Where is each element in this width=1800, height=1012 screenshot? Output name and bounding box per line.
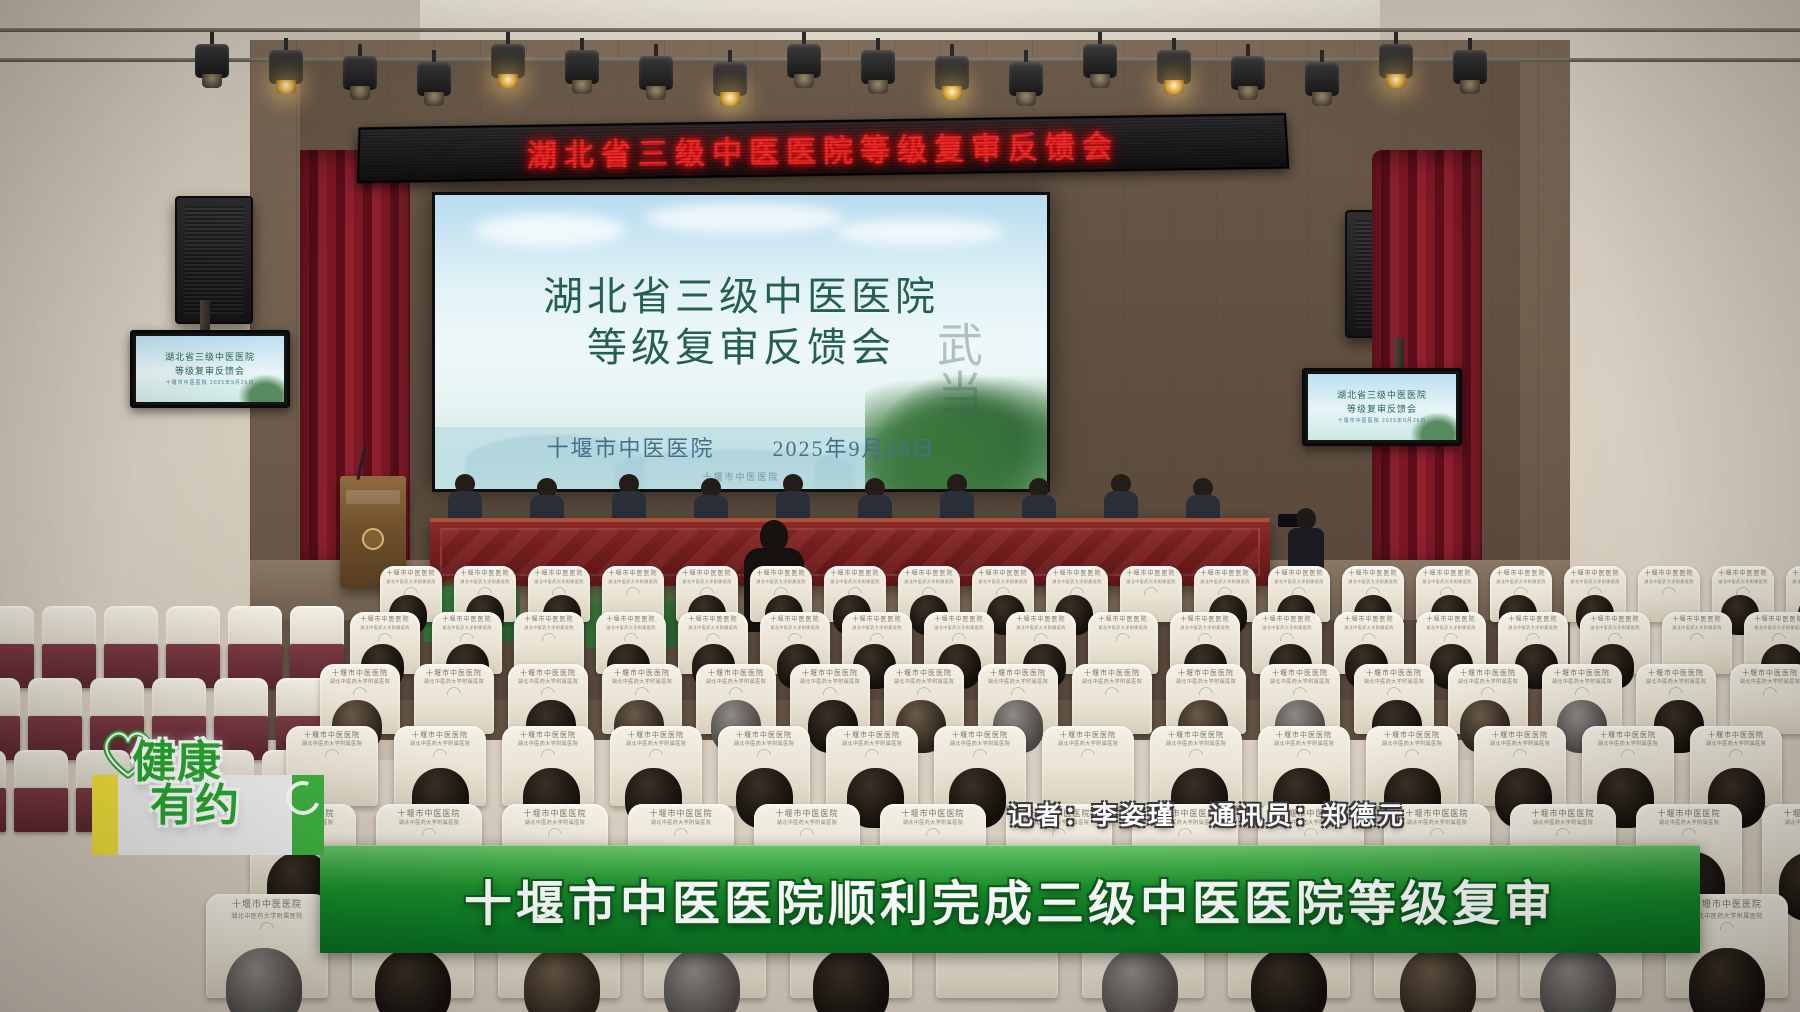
chair-cover-subtext: 湖北中医药大学附属医院	[682, 579, 732, 585]
chair-swirl-icon	[1078, 746, 1097, 765]
chair-cover-subtext: 湖北中医药大学附属医院	[1058, 740, 1119, 747]
chair-cover-subtext: 湖北中医药大学附属医院	[651, 819, 712, 826]
chair-cover-subtext: 湖北中医药大学附属医院	[1590, 625, 1640, 631]
chair-cover-text: 十堰市中医医院	[688, 617, 737, 625]
chair-cover-subtext: 湖北中医药大学附属医院	[1792, 579, 1800, 585]
chair-cover-subtext: 湖北中医药大学附属医院	[524, 625, 574, 631]
stage-lamp	[639, 44, 673, 106]
audience-member	[1400, 948, 1476, 1012]
lamp-lens	[794, 74, 814, 88]
lamp-lens	[942, 86, 962, 100]
chair-cover-text: 十堰市中医医院	[1168, 731, 1224, 740]
chair-cover-subtext: 湖北中医药大学附属医院	[1082, 678, 1143, 685]
panelist	[448, 474, 482, 520]
stage-lamp	[787, 32, 821, 94]
chair-cover-subtext: 湖北中医药大学附属医院	[1552, 678, 1613, 685]
chair-cover-text: 十堰市中医医院	[332, 669, 388, 678]
chair-cover-subtext: 湖北中医药大学附属医院	[1740, 678, 1800, 685]
chair-cover-subtext: 湖北中医药大学附属医院	[330, 678, 391, 685]
chair-cover-subtext: 湖北中医药大学附属医院	[988, 678, 1049, 685]
chair-cover-text: 十堰市中医医院	[776, 809, 839, 819]
screen-organization: 十堰市中医医院	[546, 431, 714, 463]
chair-cover-subtext: 湖北中医药大学附属医院	[688, 625, 738, 631]
broadcast-frame: 湖北省三级中医医院等级复审反馈会 武当 湖北省三级中医医院 等级复审反馈会 十堰…	[0, 0, 1800, 1012]
chair-cover-subtext: 湖北中医药大学附属医院	[1718, 579, 1768, 585]
lamp-body	[935, 56, 969, 90]
chair-cover-text: 十堰市中医医院	[904, 571, 953, 579]
chair-swirl-icon	[1510, 746, 1529, 765]
lamp-lens	[1238, 86, 1258, 100]
chair-cover-text: 十堰市中医医院	[1344, 617, 1393, 625]
chair-swirl-icon	[1141, 584, 1160, 603]
chair-cover-subtext: 湖北中医药大学附属医院	[894, 678, 955, 685]
chair-cover-text: 十堰市中医医院	[1784, 809, 1800, 819]
panelist	[940, 474, 974, 520]
lamp-body	[269, 50, 303, 84]
stage-lamp	[935, 44, 969, 106]
stage-lamp	[417, 50, 451, 112]
screen-title-line2: 等级复审反馈会	[435, 322, 1047, 373]
led-banner-text: 湖北省三级中医医院等级复审反馈会	[527, 122, 1120, 175]
chair-cover-subtext: 湖北中医药大学附属医院	[1508, 625, 1558, 631]
side-monitor-right-title2: 等级复审反馈会	[1347, 404, 1417, 415]
chair-cover-text: 十堰市中医医院	[736, 731, 792, 740]
side-monitor-left: 湖北省三级中医医院 等级复审反馈会 十堰市中医医院 2025年9月26日	[130, 330, 290, 408]
stage-lamp	[1083, 32, 1117, 94]
side-monitor-right: 湖北省三级中医医院 等级复审反馈会 十堰市中医医院 2025年9月26日	[1302, 368, 1462, 446]
chair-cover-text: 十堰市中医医院	[1016, 617, 1065, 625]
chair-cover-subtext: 湖北中医药大学附属医院	[410, 740, 471, 747]
chair-swirl-icon	[538, 746, 557, 765]
chair-cover-subtext: 湖北中医药大学附属医院	[424, 678, 485, 685]
chair-cover-text: 十堰市中医医院	[1180, 617, 1229, 625]
lamp-body	[861, 50, 895, 84]
chair-cover-text: 十堰市中医医院	[650, 809, 713, 819]
chair-swirl-icon	[257, 919, 276, 938]
chair-cover-text: 十堰市中医医院	[534, 571, 583, 579]
audience-member	[226, 948, 302, 1012]
chair-cover-subtext: 湖北中医药大学附属医院	[1274, 579, 1324, 585]
chair-cover-text: 十堰市中医医院	[1060, 731, 1116, 740]
chair-swirl-icon	[1717, 919, 1736, 938]
credit-correspondent: 通讯员：郑德元	[1210, 796, 1406, 832]
chair-cover-subtext: 湖北中医药大学附属医院	[231, 911, 303, 920]
stage-curtain-right	[1372, 150, 1482, 570]
screen-title-line1: 湖北省三级中医医院	[435, 271, 1047, 322]
chair-cover-subtext: 湖北中医药大学附属医院	[1570, 579, 1620, 585]
chair-cover-text: 十堰市中医医院	[830, 571, 879, 579]
chair-cover-subtext: 湖北中医药大学附属医院	[518, 678, 579, 685]
chair-cover-subtext: 湖北中医药大学附属医院	[608, 579, 658, 585]
chair-cover-text: 十堰市中医医院	[952, 731, 1008, 740]
chair-swirl-icon	[1186, 746, 1205, 765]
chair-swirl-icon	[970, 746, 989, 765]
lamp-body	[1009, 62, 1043, 96]
side-monitor-left-title1: 湖北省三级中医医院	[165, 352, 255, 363]
chair-cover-text: 十堰市中医医院	[1276, 731, 1332, 740]
lamp-lens	[276, 80, 296, 94]
chair-swirl-icon	[671, 826, 690, 845]
chair-cover-text: 十堰市中医医院	[1496, 571, 1545, 579]
chair-cover-text: 十堰市中医医院	[520, 669, 576, 678]
chair-cover-text: 十堰市中医医院	[386, 571, 435, 579]
audience-member	[524, 948, 600, 1012]
chair-cover-subtext: 湖北中医药大学附属医院	[606, 625, 656, 631]
operator-head	[1296, 508, 1316, 530]
chair-cover-subtext: 湖北中医药大学附属医院	[1533, 819, 1594, 826]
chair-cover-subtext: 湖北中医药大学附属医院	[534, 579, 584, 585]
lamp-lens	[424, 92, 444, 106]
stage-lamp	[195, 32, 229, 94]
chair-cover-subtext: 湖北中医药大学附属医院	[1691, 911, 1763, 920]
cloud-shape	[835, 219, 1005, 245]
chair-cover-subtext: 湖北中医药大学附属医院	[1426, 625, 1476, 631]
lamp-lens	[1164, 80, 1184, 94]
side-monitor-right-title1: 湖北省三级中医医院	[1337, 390, 1427, 401]
chair-swirl-icon	[444, 684, 463, 703]
monitor-arm-right	[1394, 338, 1404, 368]
chair-cover-text: 十堰市中医医院	[1052, 571, 1101, 579]
chair-cover-text: 十堰市中医医院	[1492, 731, 1548, 740]
chair-cover-text: 十堰市中医医院	[1272, 669, 1328, 678]
chair-cover-text: 十堰市中医医院	[1644, 571, 1693, 579]
chair-cover-text: 十堰市中医医院	[1126, 571, 1175, 579]
audience-member	[1689, 948, 1765, 1012]
chair-cover-text: 十堰市中医医院	[990, 669, 1046, 678]
lamp-lens	[646, 86, 666, 100]
chair-cover-text: 十堰市中医医院	[1422, 571, 1471, 579]
chair-cover-text: 十堰市中医医院	[852, 617, 901, 625]
chair-cover-subtext: 湖北中医药大学附属医院	[934, 625, 984, 631]
monitor-arm-left	[200, 300, 210, 330]
chair-cover-text: 十堰市中医医院	[1348, 571, 1397, 579]
chair-cover-text: 十堰市中医医院	[606, 617, 655, 625]
chair-cover-text: 十堰市中医医院	[978, 571, 1027, 579]
chair-cover-subtext: 湖北中医药大学附属医院	[386, 579, 436, 585]
chair-swirl-icon	[1113, 630, 1132, 649]
screen-subtitle: 十堰市中医医院 2025年9月26日	[435, 431, 1047, 463]
lamp-body	[787, 44, 821, 78]
hospital-emblem-icon	[362, 528, 384, 550]
chair-cover-subtext: 湖北中医药大学附属医院	[1496, 579, 1546, 585]
chair-cover-subtext: 湖北中医药大学附属医院	[777, 819, 838, 826]
chair-cover-subtext: 湖北中医药大学附属医院	[399, 819, 460, 826]
chair-cover-text: 十堰市中医医院	[756, 571, 805, 579]
side-monitor-left-surface: 湖北省三级中医医院 等级复审反馈会 十堰市中医医院 2025年9月26日	[136, 336, 284, 402]
chair-cover-subtext: 湖北中医药大学附属医院	[1348, 579, 1398, 585]
lamp-lens	[202, 74, 222, 88]
projection-screen: 武当 湖北省三级中医医院 等级复审反馈会 十堰市中医医院 2025年9月26日 …	[432, 192, 1050, 492]
chair-swirl-icon	[1659, 584, 1678, 603]
chair-swirl-icon	[1687, 630, 1706, 649]
chair-cover-text: 十堰市中医医院	[1600, 731, 1656, 740]
stage-lamp	[1453, 38, 1487, 100]
stage-lamp	[343, 44, 377, 106]
audience-member	[1540, 948, 1616, 1012]
chair-cover-subtext: 湖北中医药大学附属医院	[1785, 819, 1800, 826]
chair-swirl-icon	[1294, 746, 1313, 765]
panelist-torso	[940, 491, 974, 521]
lamp-body	[1453, 50, 1487, 84]
chair-cover-subtext: 湖北中医药大学附属医院	[842, 740, 903, 747]
chair-cover-text: 十堰市中医医院	[1098, 617, 1147, 625]
chair-cover-text: 十堰市中医医院	[1648, 669, 1704, 678]
lamp-body	[639, 56, 673, 90]
chair-swirl-icon	[1402, 746, 1421, 765]
chair-cover-text: 十堰市中医医院	[1590, 617, 1639, 625]
chair-swirl-icon	[646, 746, 665, 765]
audience-member	[1102, 948, 1178, 1012]
lamp-lens	[572, 80, 592, 94]
screen-title: 湖北省三级中医医院 等级复审反馈会	[435, 271, 1047, 373]
chair-cover-text: 十堰市中医医院	[708, 669, 764, 678]
chair-cover-subtext: 湖北中医药大学附属医院	[460, 579, 510, 585]
chair-cover-subtext: 湖北中医药大学附属医院	[1382, 740, 1443, 747]
chair-cover-text: 十堰市中医医院	[1692, 899, 1762, 911]
chair-cover-text: 十堰市中医医院	[360, 617, 409, 625]
chair-cover-subtext: 湖北中医药大学附属医院	[756, 579, 806, 585]
chair-cover-text: 十堰市中医医院	[1366, 669, 1422, 678]
stage-lamp	[565, 38, 599, 100]
stage-lamp	[1379, 32, 1413, 94]
speaker-left	[175, 196, 253, 324]
chair-cover-text: 十堰市中医医院	[1384, 731, 1440, 740]
chair-cover-subtext: 湖北中医药大学附属医院	[1644, 579, 1694, 585]
chair-cover-subtext: 湖北中医药大学附属医院	[360, 625, 410, 631]
stage-lamp	[861, 38, 895, 100]
chair-cover-text: 十堰市中医医院	[902, 809, 965, 819]
chair-cover-text: 十堰市中医医院	[412, 731, 468, 740]
chair-cover-text: 十堰市中医医院	[520, 731, 576, 740]
screen-date: 2025年9月26日	[773, 431, 936, 463]
chair-swirl-icon	[1102, 684, 1121, 703]
chair-cover-subtext: 湖北中医药大学附属医院	[904, 579, 954, 585]
chair-cover-text: 十堰市中医医院	[426, 669, 482, 678]
chair-cover-subtext: 湖北中医药大学附属医院	[442, 625, 492, 631]
chair-cover-text: 十堰市中医医院	[524, 809, 587, 819]
lamp-lens	[720, 92, 740, 106]
lamp-body	[343, 56, 377, 90]
audience-chair: 十堰市中医医院湖北中医药大学附属医院	[414, 664, 494, 734]
lamp-lens	[868, 80, 888, 94]
lamp-body	[1305, 62, 1339, 96]
program-logo-line1: 健康	[132, 741, 328, 784]
side-monitor-left-foliage	[238, 374, 284, 402]
chair-cover-subtext: 湖北中医药大学附属医院	[1344, 625, 1394, 631]
chair-cover-subtext: 湖北中医药大学附属医院	[950, 740, 1011, 747]
lamp-lens	[1386, 74, 1406, 88]
chair-swirl-icon	[1760, 684, 1779, 703]
chair-cover-subtext: 湖北中医药大学附属医院	[734, 740, 795, 747]
chair-cover-subtext: 湖北中医药大学附属医院	[852, 625, 902, 631]
chair-cover-subtext: 湖北中医药大学附属医院	[1098, 625, 1148, 631]
panelist-torso	[612, 491, 646, 521]
chair-cover-subtext: 湖北中医药大学附属医院	[770, 625, 820, 631]
lamp-lens	[350, 86, 370, 100]
chair-cover-subtext: 湖北中医药大学附属医院	[1126, 579, 1176, 585]
panelist	[612, 474, 646, 520]
chair-cover-subtext: 湖北中医药大学附属医院	[525, 819, 586, 826]
chair-cover-subtext: 湖北中医药大学附属医院	[1672, 625, 1722, 631]
chair-swirl-icon	[1618, 746, 1637, 765]
side-monitor-left-title2: 等级复审反馈会	[175, 366, 245, 377]
chair-swirl-icon	[1427, 826, 1446, 845]
chair-swirl-icon	[1726, 746, 1745, 765]
chair-cover-text: 十堰市中医医院	[1554, 669, 1610, 678]
audience-member	[664, 948, 740, 1012]
chair-cover-text: 十堰市中医医院	[398, 809, 461, 819]
chair-cover-text: 十堰市中医医院	[1708, 731, 1764, 740]
chair-cover-text: 十堰市中医医院	[1262, 617, 1311, 625]
stage-lamp	[713, 50, 747, 112]
chair-swirl-icon	[862, 746, 881, 765]
lamp-lens	[498, 74, 518, 88]
chair-cover-text: 十堰市中医医院	[844, 731, 900, 740]
chair-cover-text: 十堰市中医医院	[1426, 617, 1475, 625]
lamp-body	[1231, 56, 1265, 90]
panelist-torso	[1104, 491, 1138, 521]
chair-cover-subtext: 湖北中医药大学附属医院	[1274, 740, 1335, 747]
chair-swirl-icon	[754, 746, 773, 765]
audience-member	[1251, 948, 1327, 1012]
chair-swirl-icon	[797, 826, 816, 845]
lamp-body	[713, 62, 747, 96]
lamp-lens	[1460, 80, 1480, 94]
chair-swirl-icon	[623, 584, 642, 603]
lamp-lens	[1016, 92, 1036, 106]
chair-cover-text: 十堰市中医医院	[524, 617, 573, 625]
lamp-body	[491, 44, 525, 78]
chair-cover-text: 十堰市中医医院	[608, 571, 657, 579]
cloud-shape	[645, 203, 845, 233]
chair-cover-subtext: 湖北中医药大学附属医院	[903, 819, 964, 826]
chair-cover-text: 十堰市中医医院	[1532, 809, 1595, 819]
chair-cover-text: 十堰市中医医院	[628, 731, 684, 740]
side-monitor-right-foliage	[1410, 412, 1456, 440]
chair-cover-subtext: 湖北中医药大学附属医院	[1659, 819, 1720, 826]
chair-cover-text: 十堰市中医医院	[442, 617, 491, 625]
lamp-body	[1157, 50, 1191, 84]
headline-text: 十堰市中医医院顺利完成三级中医医院等级复审	[464, 864, 1556, 934]
program-logo: 健康 有约	[92, 725, 324, 855]
chair-cover-text: 十堰市中医医院	[1460, 669, 1516, 678]
chair-cover-subtext: 湖北中医药大学附属医院	[978, 579, 1028, 585]
panelist-torso	[776, 491, 810, 521]
chair-cover-subtext: 湖北中医药大学附属医院	[1176, 678, 1237, 685]
chair-cover-subtext: 湖北中医药大学附属医院	[1598, 740, 1659, 747]
lamp-body	[565, 50, 599, 84]
chair-cover-text: 十堰市中医医院	[614, 669, 670, 678]
lamp-body	[1379, 44, 1413, 78]
panelist	[776, 474, 810, 520]
chair-cover-text: 十堰市中医医院	[1658, 809, 1721, 819]
panelist-torso	[448, 491, 482, 521]
chair-cover-text: 十堰市中医医院	[802, 669, 858, 678]
stage-lamp	[1009, 50, 1043, 112]
lamp-lens	[1090, 74, 1110, 88]
chair-cover-subtext: 湖北中医药大学附属医院	[800, 678, 861, 685]
chair-cover-text: 十堰市中医医院	[1718, 571, 1767, 579]
chair-cover-subtext: 湖北中医药大学附属医院	[1364, 678, 1425, 685]
chair-cover-text: 十堰市中医医院	[770, 617, 819, 625]
projection-screen-surface: 武当 湖北省三级中医医院 等级复审反馈会 十堰市中医医院 2025年9月26日 …	[435, 195, 1047, 489]
chair-cover-subtext: 湖北中医药大学附属医院	[1458, 678, 1519, 685]
chair-cover-text: 十堰市中医医院	[896, 669, 952, 678]
chair-swirl-icon	[545, 826, 564, 845]
chair-cover-subtext: 湖北中医药大学附属医院	[1754, 625, 1800, 631]
chair-cover-subtext: 湖北中医药大学附属医院	[1052, 579, 1102, 585]
chair-cover-text: 十堰市中医医院	[1178, 669, 1234, 678]
chair-cover-subtext: 湖北中医药大学附属医院	[1180, 625, 1230, 631]
audience-chair: 十堰市中医医院湖北中医药大学附属医院	[1072, 664, 1152, 734]
chair-cover-subtext: 湖北中医药大学附属医院	[830, 579, 880, 585]
chair-cover-subtext: 湖北中医药大学附属医院	[1016, 625, 1066, 631]
chair-swirl-icon	[923, 826, 942, 845]
chair-cover-text: 十堰市中医医院	[460, 571, 509, 579]
chair-cover-text: 十堰市中医医院	[1274, 571, 1323, 579]
chair-cover-subtext: 湖北中医药大学附属医院	[1646, 678, 1707, 685]
truss-bar-upper	[0, 28, 1800, 32]
lighting-truss	[0, 18, 1800, 110]
chair-cover-text: 十堰市中医医院	[1742, 669, 1798, 678]
audience-member	[375, 948, 451, 1012]
audience-chair: 十堰市中医医院湖北中医药大学附属医院	[1730, 664, 1800, 734]
lamp-body	[417, 62, 451, 96]
chair-cover-subtext: 湖北中医药大学附属医院	[1407, 819, 1468, 826]
chair-cover-subtext: 湖北中医药大学附属医院	[1200, 579, 1250, 585]
chair-cover-subtext: 湖北中医药大学附属医院	[1706, 740, 1767, 747]
chair-cover-text: 十堰市中医医院	[934, 617, 983, 625]
chair-cover-text: 十堰市中医医院	[232, 899, 302, 911]
stage-lamp	[1157, 38, 1191, 100]
stage-lamp	[1305, 50, 1339, 112]
lamp-body	[195, 44, 229, 78]
chair-cover-subtext: 湖北中医药大学附属医院	[626, 740, 687, 747]
stage-lamp	[269, 38, 303, 100]
chair-cover-subtext: 湖北中医药大学附属医院	[706, 678, 767, 685]
chair-swirl-icon	[539, 630, 558, 649]
audience-chair: 十堰市中医医院湖北中医药大学附属医院	[1042, 726, 1134, 806]
audience-member	[813, 948, 889, 1012]
chair-cover-text: 十堰市中医医院	[1754, 617, 1800, 625]
chair-cover-subtext: 湖北中医药大学附属医院	[612, 678, 673, 685]
chair-cover-text: 十堰市中医医院	[1508, 617, 1557, 625]
lower-third-banner: 十堰市中医医院顺利完成三级中医医院等级复审	[320, 845, 1700, 953]
chair-cover-text: 十堰市中医医院	[1792, 571, 1800, 579]
side-monitor-right-surface: 湖北省三级中医医院 等级复审反馈会 十堰市中医医院 2025年9月26日	[1308, 374, 1456, 440]
credits-line: 记者：李姿瑾 通讯员：郑德元	[1008, 796, 1406, 832]
chair-cover-subtext: 湖北中医药大学附属医院	[1270, 678, 1331, 685]
podium-plate	[346, 490, 400, 504]
stage-lamp	[1231, 44, 1265, 106]
chair-swirl-icon	[1553, 826, 1572, 845]
chair-cover-text: 十堰市中医医院	[1084, 669, 1140, 678]
chair-swirl-icon	[419, 826, 438, 845]
chair-cover-text: 十堰市中医医院	[1672, 617, 1721, 625]
lamp-body	[1083, 44, 1117, 78]
chair-cover-subtext: 湖北中医药大学附属医院	[1490, 740, 1551, 747]
panelist	[1104, 474, 1138, 520]
chair-swirl-icon	[430, 746, 449, 765]
chair-cover-text: 十堰市中医医院	[1200, 571, 1249, 579]
chair-cover-subtext: 湖北中医药大学附属医院	[1262, 625, 1312, 631]
chair-cover-subtext: 湖北中医药大学附属医院	[1422, 579, 1472, 585]
stage-lamp	[491, 32, 525, 94]
lamp-lens	[1312, 92, 1332, 106]
chair-swirl-icon	[1679, 826, 1698, 845]
credit-reporter: 记者：李姿瑾	[1008, 796, 1176, 832]
chair-cover-text: 十堰市中医医院	[1570, 571, 1619, 579]
